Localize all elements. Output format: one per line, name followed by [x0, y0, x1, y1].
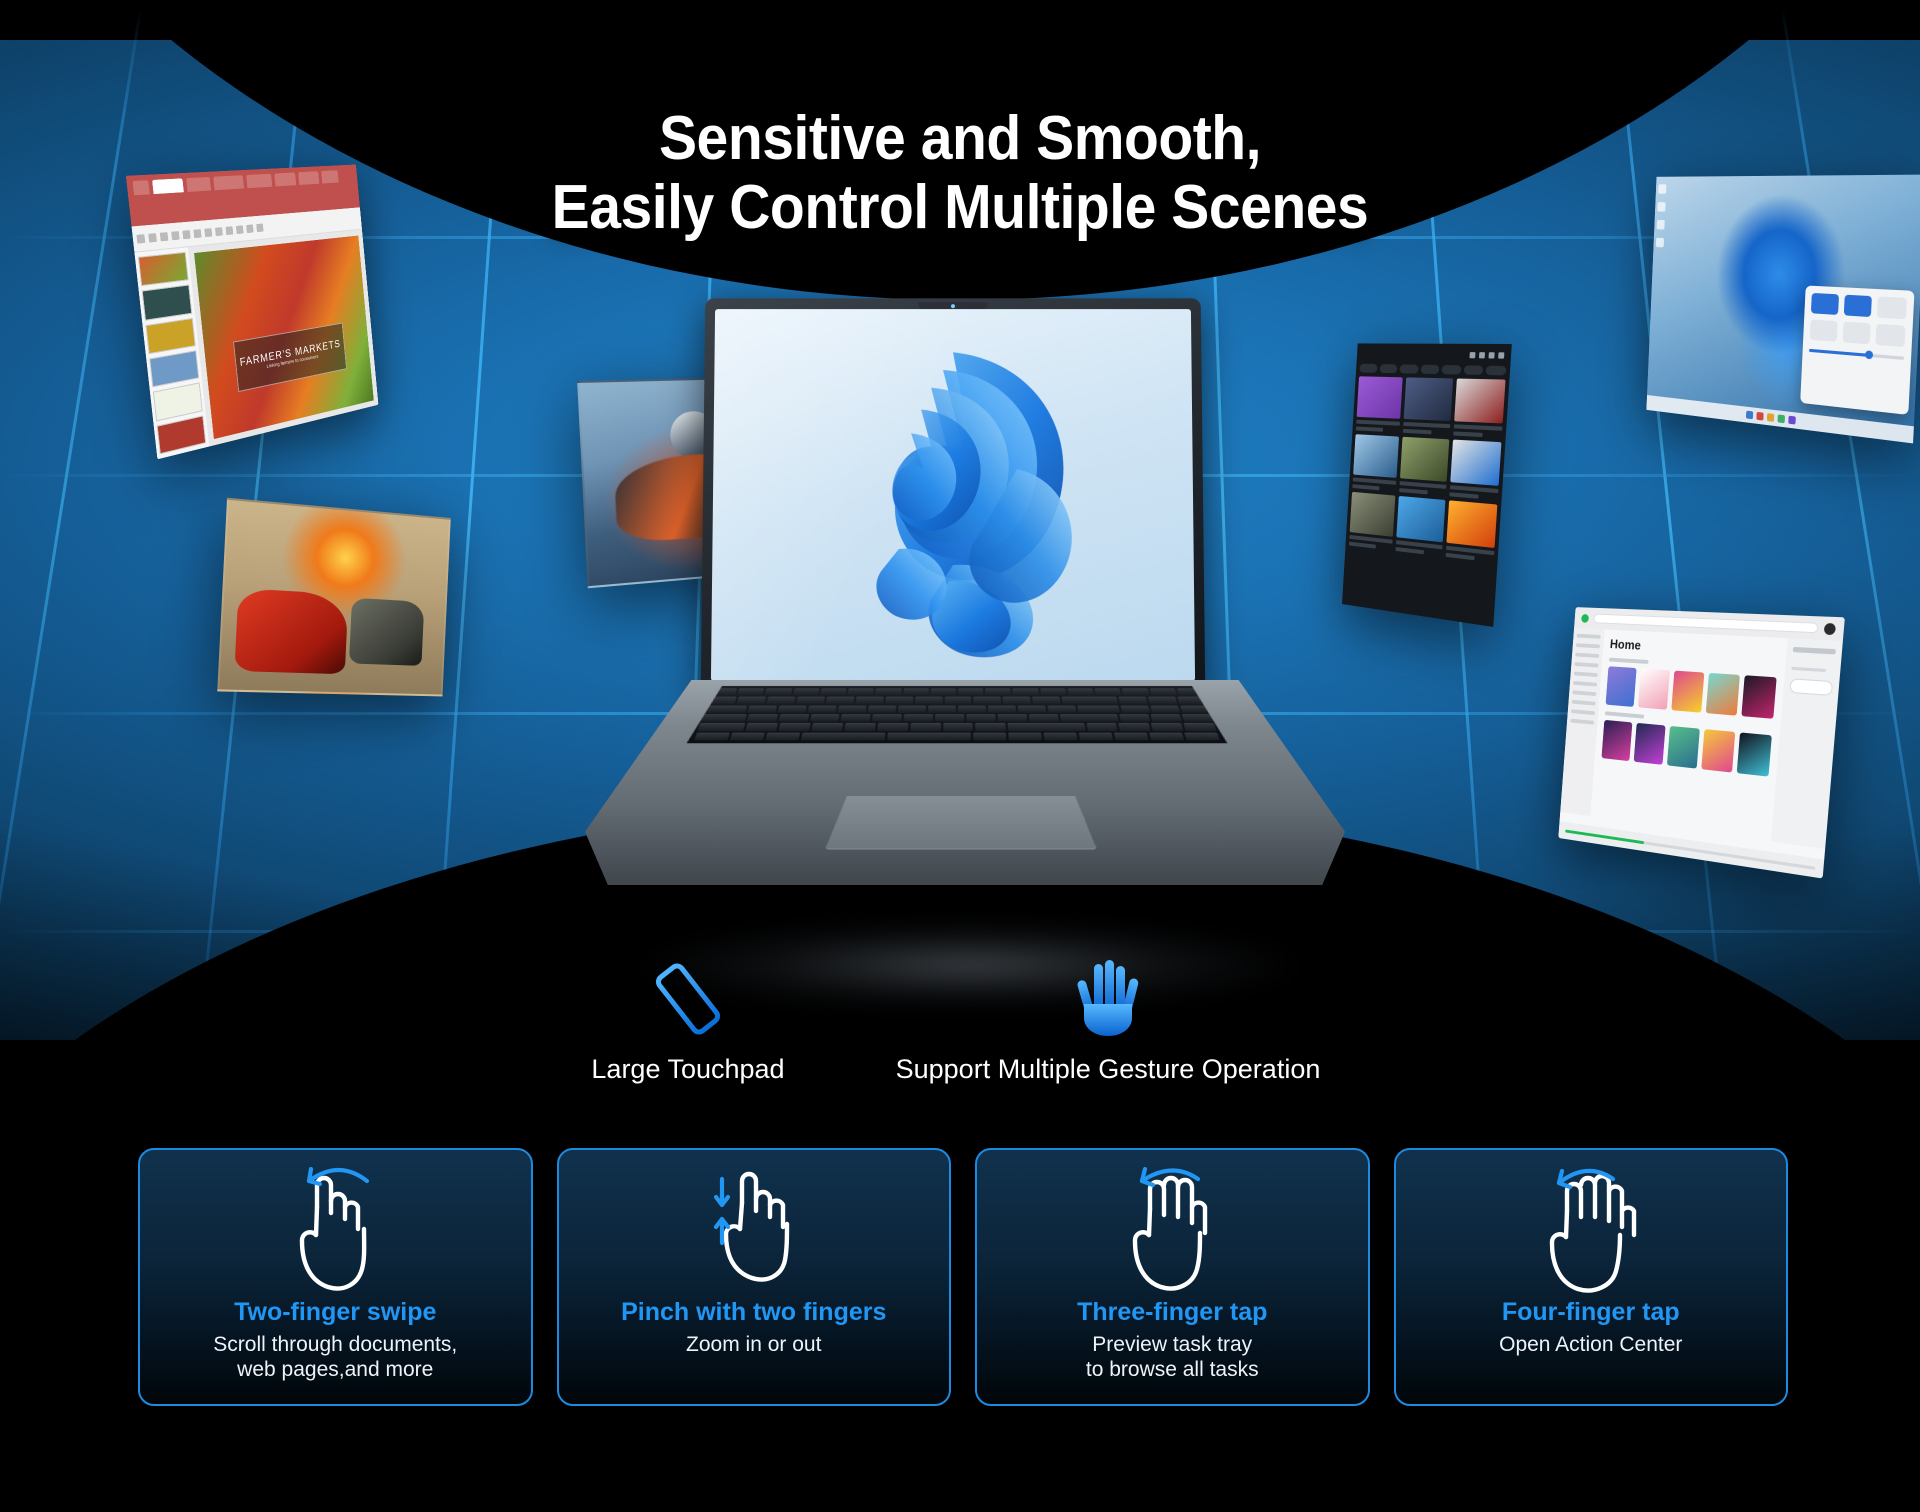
gesture-description: Scroll through documents, web pages,and … [213, 1333, 457, 1383]
airplane-toggle [1877, 296, 1907, 319]
video-card [1449, 440, 1501, 501]
keyboard-row [707, 697, 1208, 704]
page-title: Sensitive and Smooth, Easily Control Mul… [77, 104, 1843, 243]
video-panel-toolbar [1360, 347, 1508, 363]
music-app-body: Home [1560, 628, 1843, 849]
webcam-icon [918, 302, 987, 309]
ppt-active-slide: FARMER'S MARKETS Linking farmers to cons… [194, 236, 374, 440]
caption-gesture-support: Support Multiple Gesture Operation [838, 960, 1378, 1085]
headline-line-1: Sensitive and Smooth, [77, 104, 1843, 173]
gesture-description: Preview task tray to browse all tasks [1086, 1333, 1259, 1383]
gesture-card-list: Two-finger swipe Scroll through document… [138, 1148, 1788, 1406]
scene-panel-car-racing-game [217, 498, 451, 697]
keyboard-row [701, 714, 1214, 722]
gesture-title: Four-finger tap [1502, 1298, 1680, 1327]
gesture-card-pinch-two-fingers[interactable]: Pinch with two fingers Zoom in or out [557, 1148, 952, 1406]
scene-panel-music-app: Home [1558, 607, 1845, 878]
feature-captions: Large Touchpad S [0, 960, 1920, 1110]
music-album-row [1601, 720, 1771, 777]
keyboard-row [697, 723, 1216, 731]
three-finger-tap-hand-icon [1102, 1166, 1242, 1296]
gesture-title: Two-finger swipe [234, 1298, 436, 1327]
gesture-title: Pinch with two fingers [621, 1298, 886, 1327]
four-finger-tap-hand-icon [1521, 1166, 1661, 1296]
caption-label: Support Multiple Gesture Operation [838, 1054, 1378, 1085]
gesture-card-three-finger-tap[interactable]: Three-finger tap Preview task tray to br… [975, 1148, 1370, 1406]
open-hand-icon [838, 960, 1378, 1038]
video-card [1399, 437, 1449, 496]
windows-11-bloom-wallpaper [802, 330, 1104, 659]
laptop-screen [711, 309, 1195, 681]
laptop-lid [701, 298, 1206, 697]
gesture-description: Open Action Center [1499, 1333, 1682, 1358]
pinch-two-finger-hand-icon [684, 1166, 824, 1296]
gesture-card-four-finger-tap[interactable]: Four-finger tap Open Action Center [1394, 1148, 1789, 1406]
video-thumbnail-grid [1349, 376, 1506, 562]
gesture-card-two-finger-swipe[interactable]: Two-finger swipe Scroll through document… [138, 1148, 533, 1406]
caption-large-touchpad: Large Touchpad [568, 960, 808, 1085]
video-filter-chips [1359, 364, 1506, 376]
battery-saver-toggle [1810, 319, 1838, 341]
ruler-icon [568, 960, 808, 1038]
wifi-toggle [1811, 293, 1839, 315]
headline-line-2: Easily Control Multiple Scenes [77, 173, 1843, 242]
two-finger-swipe-hand-icon [265, 1166, 405, 1296]
laptop-trackpad[interactable] [825, 796, 1097, 849]
scene-panel-video-grid [1342, 343, 1512, 627]
keyboard-row [710, 688, 1205, 695]
music-album-row [1605, 666, 1776, 719]
accessibility-toggle [1876, 324, 1906, 347]
quick-settings-grid [1810, 293, 1907, 347]
volume-slider [1809, 349, 1904, 360]
video-card [1349, 492, 1396, 551]
video-card [1445, 500, 1497, 562]
music-main-content: Home [1590, 629, 1788, 841]
laptop-keyboard [687, 686, 1228, 743]
promo-stage: FARMER'S MARKETS Linking farmers to cons… [0, 0, 1920, 1512]
music-user-avatar [1824, 622, 1836, 634]
video-card [1453, 379, 1506, 439]
music-home-heading: Home [1609, 636, 1779, 660]
caption-label: Large Touchpad [568, 1054, 808, 1085]
bloom-svg [802, 330, 1104, 659]
video-card [1396, 496, 1445, 556]
night-light-toggle [1842, 322, 1871, 345]
action-center-panel [1800, 285, 1914, 414]
ppt-slide-caption: FARMER'S MARKETS Linking farmers to cons… [233, 323, 347, 393]
keyboard-row [694, 732, 1220, 740]
bluetooth-toggle [1843, 295, 1872, 317]
keyboard-row [704, 705, 1211, 712]
video-card [1352, 434, 1399, 492]
video-card [1356, 376, 1403, 432]
music-app-logo-icon [1581, 614, 1589, 623]
video-card [1403, 377, 1453, 435]
gesture-title: Three-finger tap [1077, 1298, 1267, 1327]
gesture-description: Zoom in or out [686, 1333, 821, 1358]
laptop [585, 296, 1345, 946]
music-action-button [1789, 678, 1833, 696]
